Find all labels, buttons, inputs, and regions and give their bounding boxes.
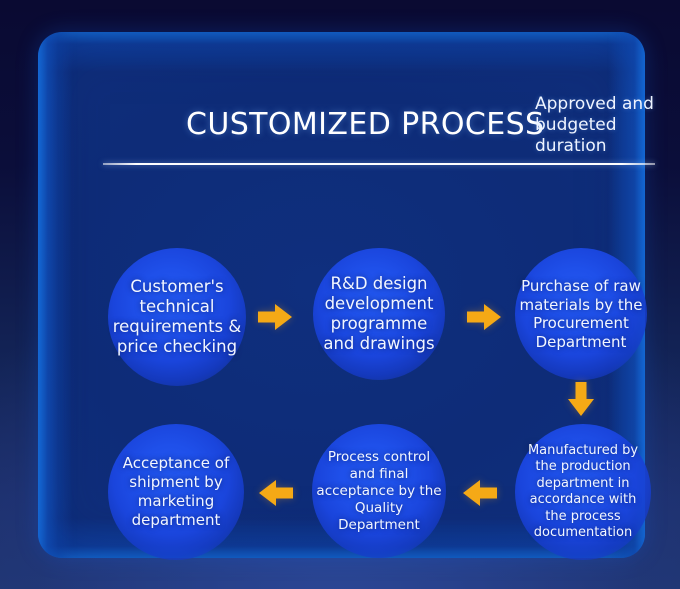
process-node-2-label: R&D design development programme and dra… <box>313 274 445 354</box>
process-node-4-label: Manufactured by the production departmen… <box>515 443 651 542</box>
panel-header: CUSTOMIZED PROCESS Approved and budgeted… <box>38 32 645 152</box>
page-title: CUSTOMIZED PROCESS <box>186 110 536 140</box>
process-node-2[interactable]: R&D design development programme and dra… <box>313 248 445 380</box>
process-node-5[interactable]: Process control and final acceptance by … <box>312 424 446 558</box>
process-node-6[interactable]: Acceptance of shipment by marketing depa… <box>108 424 244 560</box>
subtitle-note: Approved and budgeted duration <box>535 94 680 157</box>
subtitle-line-2: budgeted <box>535 115 680 136</box>
slide-canvas: CUSTOMIZED PROCESS Approved and budgeted… <box>0 0 680 589</box>
process-panel: CUSTOMIZED PROCESS Approved and budgeted… <box>38 32 645 558</box>
process-node-6-label: Acceptance of shipment by marketing depa… <box>108 454 244 530</box>
process-node-3[interactable]: Purchase of raw materials by the Procure… <box>515 248 647 380</box>
process-node-4[interactable]: Manufactured by the production departmen… <box>515 424 651 560</box>
title-divider <box>103 163 655 165</box>
process-node-5-label: Process control and final acceptance by … <box>312 449 446 534</box>
process-node-1[interactable]: Customer's technical requirements & pric… <box>108 248 246 386</box>
process-node-3-label: Purchase of raw materials by the Procure… <box>515 277 647 351</box>
subtitle-line-3: duration <box>535 136 680 157</box>
process-node-1-label: Customer's technical requirements & pric… <box>108 277 246 357</box>
subtitle-line-1: Approved and <box>535 94 680 115</box>
